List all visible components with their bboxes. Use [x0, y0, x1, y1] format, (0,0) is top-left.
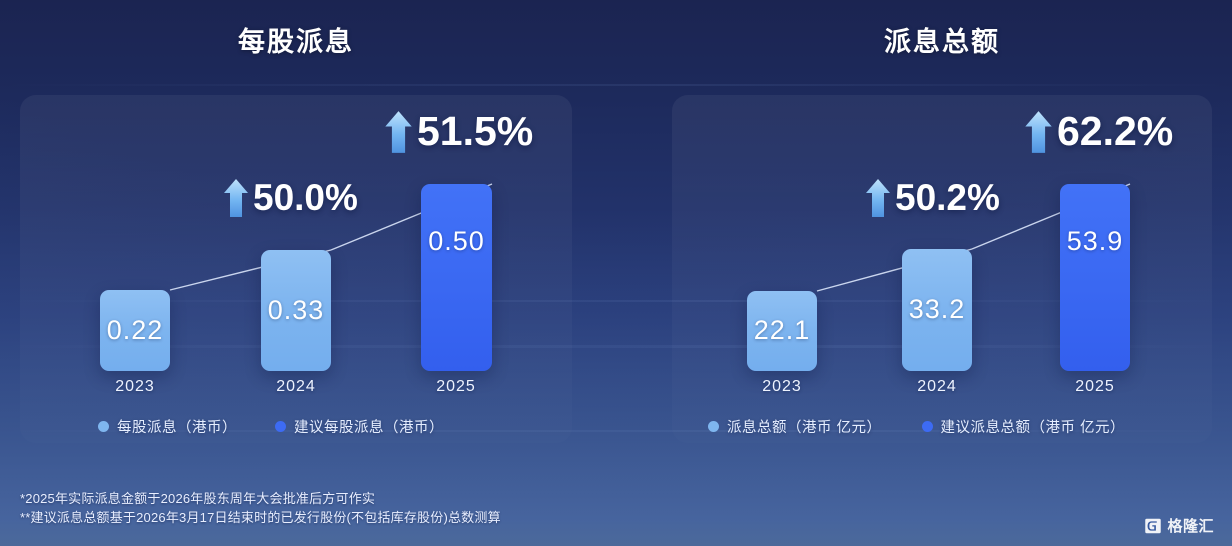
growth-annotation-2024: 50.2%	[865, 177, 1000, 219]
legend-dividend-per-share: 每股派息（港币） 建议每股派息（港币）	[98, 416, 444, 437]
x-axis-label-2023: 2023	[95, 378, 175, 396]
x-axis-label-2024: 2024	[897, 378, 977, 396]
bar-value-2025: 0.50	[421, 226, 492, 257]
x-axis-label-2025: 2025	[1055, 378, 1135, 396]
up-arrow-icon	[384, 110, 413, 154]
bar-value-2024: 0.33	[261, 295, 331, 326]
legend-label-actual: 派息总额（港币 亿元）	[727, 416, 882, 437]
growth-percent-2024: 50.0%	[253, 177, 358, 219]
growth-annotation-2025: 51.5%	[384, 108, 533, 155]
background-sheen-line	[0, 84, 1232, 86]
growth-annotation-2024: 50.0%	[223, 177, 358, 219]
bar-2025[interactable]: 53.9	[1060, 184, 1130, 371]
legend-item-proposed[interactable]: 建议派息总额（港币 亿元）	[922, 416, 1126, 437]
plot-area-right: 22.1 33.2 53.9 2023 2024 2025	[672, 95, 1212, 443]
legend-swatch-icon	[275, 421, 286, 432]
x-axis-label-2023: 2023	[742, 378, 822, 396]
legend-swatch-icon	[708, 421, 719, 432]
up-arrow-icon	[1024, 110, 1053, 154]
bar-2023[interactable]: 22.1	[747, 291, 817, 371]
up-arrow-icon	[223, 178, 249, 218]
chart-title-total-dividend: 派息总额	[672, 20, 1212, 59]
legend-item-proposed[interactable]: 建议每股派息（港币）	[275, 416, 444, 437]
bar-value-2023: 22.1	[747, 315, 817, 346]
bar-2024[interactable]: 0.33	[261, 250, 331, 371]
bar-2025[interactable]: 0.50	[421, 184, 492, 371]
up-arrow-icon	[865, 178, 891, 218]
growth-percent-2025: 62.2%	[1057, 108, 1173, 155]
legend-swatch-icon	[922, 421, 933, 432]
legend-item-actual[interactable]: 每股派息（港币）	[98, 416, 237, 437]
legend-label-proposed: 建议每股派息（港币）	[294, 416, 444, 437]
legend-label-actual: 每股派息（港币）	[117, 416, 237, 437]
legend-total-dividend: 派息总额（港币 亿元） 建议派息总额（港币 亿元）	[708, 416, 1125, 437]
footnotes: *2025年实际派息金额于2026年股东周年大会批准后方可作实 **建议派息总额…	[20, 489, 501, 527]
bar-value-2024: 33.2	[902, 294, 972, 325]
bar-2024[interactable]: 33.2	[902, 249, 972, 371]
legend-label-proposed: 建议派息总额（港币 亿元）	[941, 416, 1126, 437]
chart-panel-total-dividend: 22.1 33.2 53.9 2023 2024 2025	[672, 95, 1212, 443]
plot-area-left: 0.22 0.33 0.50 2023 2024 2025	[20, 95, 572, 443]
bar-value-2025: 53.9	[1060, 226, 1130, 257]
x-axis-label-2025: 2025	[416, 378, 496, 396]
glh-logo-icon	[1144, 517, 1162, 535]
footnote-2: **建议派息总额基于2026年3月17日结束时的已发行股份(不包括库存股份)总数…	[20, 508, 501, 527]
x-axis-label-2024: 2024	[256, 378, 336, 396]
bar-2023[interactable]: 0.22	[100, 290, 170, 371]
growth-percent-2024: 50.2%	[895, 177, 1000, 219]
bar-value-2023: 0.22	[100, 315, 170, 346]
legend-swatch-icon	[98, 421, 109, 432]
slide-canvas: 每股派息 派息总额 0.22 0.33 0.50 2023 20	[0, 0, 1232, 546]
footnote-1: *2025年实际派息金额于2026年股东周年大会批准后方可作实	[20, 489, 501, 508]
legend-item-actual[interactable]: 派息总额（港币 亿元）	[708, 416, 882, 437]
chart-panel-dividend-per-share: 0.22 0.33 0.50 2023 2024 2025	[20, 95, 572, 443]
chart-title-dividend-per-share: 每股派息	[20, 20, 572, 59]
watermark-logo: 格隆汇	[1144, 515, 1214, 536]
watermark-text: 格隆汇	[1167, 515, 1214, 536]
growth-annotation-2025: 62.2%	[1024, 108, 1173, 155]
growth-percent-2025: 51.5%	[417, 108, 533, 155]
